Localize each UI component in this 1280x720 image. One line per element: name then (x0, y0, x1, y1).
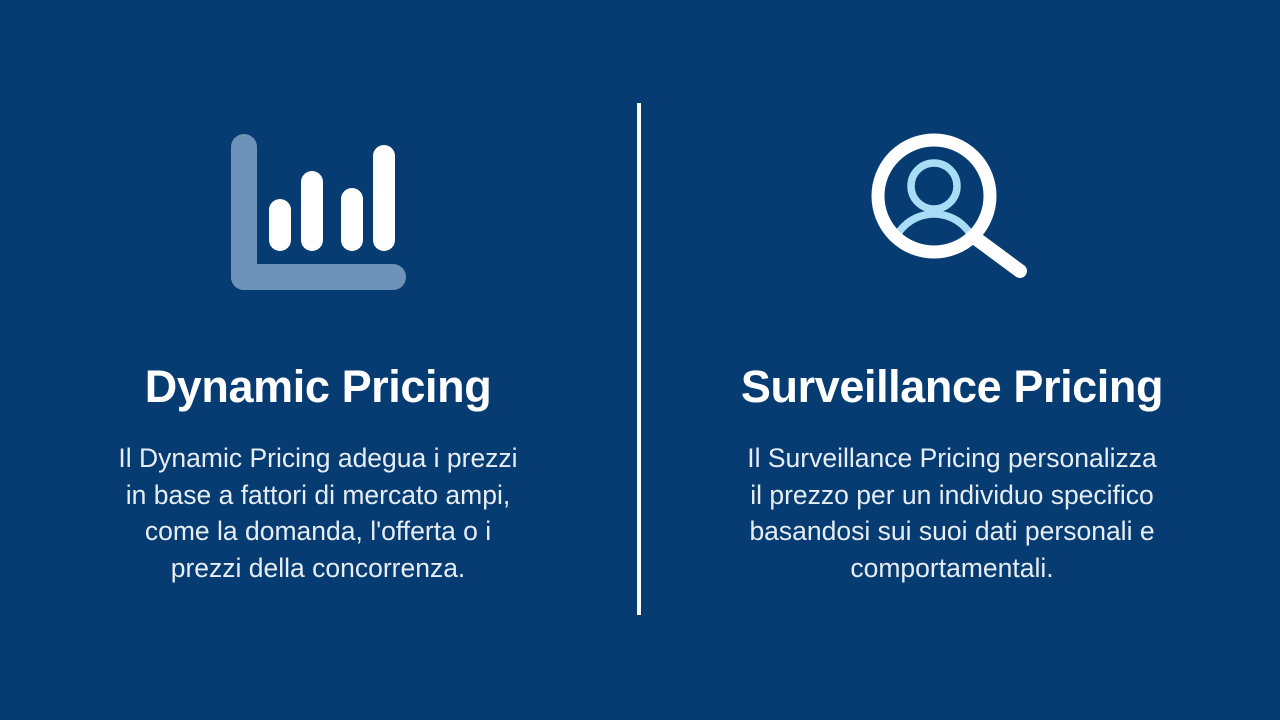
vertical-divider (637, 103, 641, 615)
column-surveillance-pricing: Surveillance Pricing Il Surveillance Pri… (652, 0, 1252, 720)
magnifier-person-icon-wrapper (852, 125, 1052, 305)
card-title-dynamic-pricing: Dynamic Pricing (18, 359, 618, 415)
bar-chart-icon-wrapper (218, 125, 418, 305)
card-title-surveillance-pricing: Surveillance Pricing (652, 359, 1252, 415)
person-head-icon (911, 163, 957, 209)
card-body-surveillance-pricing: Il Surveillance Pricing personalizza il … (742, 440, 1162, 586)
magnifier-handle-icon (974, 237, 1020, 271)
column-dynamic-pricing: Dynamic Pricing Il Dynamic Pricing adegu… (18, 0, 618, 720)
card-body-dynamic-pricing: Il Dynamic Pricing adegua i prezzi in ba… (108, 440, 528, 586)
magnifier-ring-icon (878, 140, 990, 252)
comparison-slide: Dynamic Pricing Il Dynamic Pricing adegu… (0, 0, 1280, 720)
bar-chart-icon (218, 125, 418, 305)
magnifier-person-icon (852, 125, 1052, 305)
